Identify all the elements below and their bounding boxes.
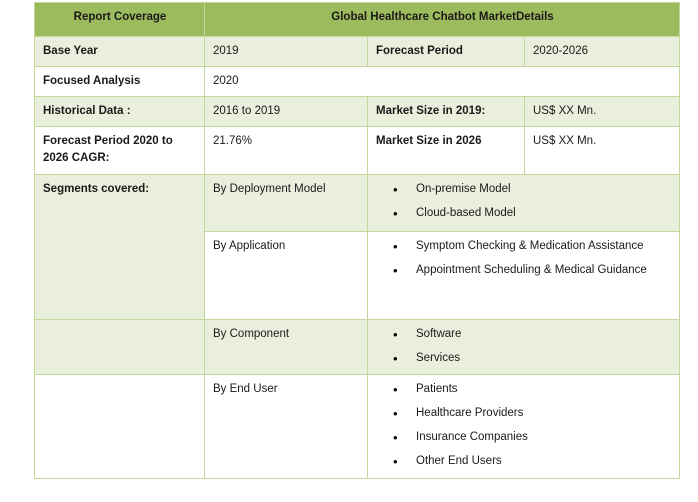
report-coverage-page: Report Coverage Global Healthcare Chatbo… bbox=[0, 0, 698, 502]
list-item-label: On-premise Model bbox=[416, 181, 668, 198]
list-item: Services bbox=[416, 350, 672, 367]
label-forecast-cagr: Forecast Period 2020 to 2026 CAGR: bbox=[35, 127, 205, 175]
label-historical-data: Historical Data : bbox=[35, 97, 205, 127]
bullet-list: Patients Healthcare Providers Insurance … bbox=[376, 381, 672, 471]
table-row: Historical Data : 2016 to 2019 Market Si… bbox=[35, 97, 680, 127]
segment-name-end-user: By End User bbox=[205, 374, 368, 478]
label-market-size-2019: Market Size in 2019: bbox=[368, 97, 525, 127]
table-row: Forecast Period 2020 to 2026 CAGR: 21.76… bbox=[35, 127, 680, 175]
list-item: Software bbox=[416, 326, 672, 343]
table-header-row: Report Coverage Global Healthcare Chatbo… bbox=[35, 3, 680, 37]
list-item: Healthcare Providers bbox=[416, 405, 672, 422]
segment-name-deployment-model: By Deployment Model bbox=[205, 175, 368, 232]
table-row: By End User Patients Healthcare Provider… bbox=[35, 374, 680, 478]
label-base-year: Base Year bbox=[35, 37, 205, 67]
table-row: Segments covered: By Deployment Model On… bbox=[35, 175, 680, 232]
segment-name-component: By Component bbox=[205, 320, 368, 375]
value-focused-analysis: 2020 bbox=[205, 67, 680, 97]
label-segments-covered: Segments covered: bbox=[35, 175, 205, 320]
list-item-label: Software bbox=[416, 326, 668, 343]
label-market-size-2026: Market Size in 2026 bbox=[368, 127, 525, 175]
list-item: Insurance Companies bbox=[416, 429, 672, 446]
list-item-label: Insurance Companies bbox=[416, 429, 668, 446]
value-base-year: 2019 bbox=[205, 37, 368, 67]
segment-items-end-user: Patients Healthcare Providers Insurance … bbox=[368, 374, 680, 478]
list-item-label: Other End Users bbox=[416, 453, 668, 470]
list-item: Appointment Scheduling & Medical Guidanc… bbox=[416, 262, 672, 279]
header-market-details: Global Healthcare Chatbot MarketDetails bbox=[205, 3, 680, 37]
list-item-label: Healthcare Providers bbox=[416, 405, 668, 422]
table-row: By Component Software Services bbox=[35, 320, 680, 375]
list-item: On-premise Model bbox=[416, 181, 672, 198]
bullet-list: Symptom Checking & Medication Assistance… bbox=[376, 238, 672, 280]
value-market-size-2019: US$ XX Mn. bbox=[525, 97, 680, 127]
report-coverage-table: Report Coverage Global Healthcare Chatbo… bbox=[34, 2, 680, 479]
list-item-label: Appointment Scheduling & Medical Guidanc… bbox=[416, 262, 668, 279]
list-item-label: Symptom Checking & Medication Assistance bbox=[416, 238, 668, 255]
table-row: Focused Analysis 2020 bbox=[35, 67, 680, 97]
segment-items-deployment-model: On-premise Model Cloud-based Model bbox=[368, 175, 680, 232]
value-market-size-2026: US$ XX Mn. bbox=[525, 127, 680, 175]
segment-items-component: Software Services bbox=[368, 320, 680, 375]
list-item: Symptom Checking & Medication Assistance bbox=[416, 238, 672, 255]
table-row: Base Year 2019 Forecast Period 2020-2026 bbox=[35, 37, 680, 67]
list-item: Cloud-based Model bbox=[416, 205, 672, 222]
bullet-list: On-premise Model Cloud-based Model bbox=[376, 181, 672, 223]
segments-spacer-end-user bbox=[35, 374, 205, 478]
list-item-label: Services bbox=[416, 350, 668, 367]
value-forecast-cagr: 21.76% bbox=[205, 127, 368, 175]
segments-spacer-component bbox=[35, 320, 205, 375]
value-forecast-period: 2020-2026 bbox=[525, 37, 680, 67]
label-focused-analysis: Focused Analysis bbox=[35, 67, 205, 97]
list-item: Patients bbox=[416, 381, 672, 398]
list-item: Other End Users bbox=[416, 453, 672, 470]
label-forecast-period: Forecast Period bbox=[368, 37, 525, 67]
value-historical-data: 2016 to 2019 bbox=[205, 97, 368, 127]
bullet-list: Software Services bbox=[376, 326, 672, 368]
segment-name-application: By Application bbox=[205, 232, 368, 320]
header-report-coverage: Report Coverage bbox=[35, 3, 205, 37]
segment-items-application: Symptom Checking & Medication Assistance… bbox=[368, 232, 680, 320]
report-coverage-table-wrap: Report Coverage Global Healthcare Chatbo… bbox=[34, 2, 679, 479]
list-item-label: Patients bbox=[416, 381, 668, 398]
list-item-label: Cloud-based Model bbox=[416, 205, 668, 222]
